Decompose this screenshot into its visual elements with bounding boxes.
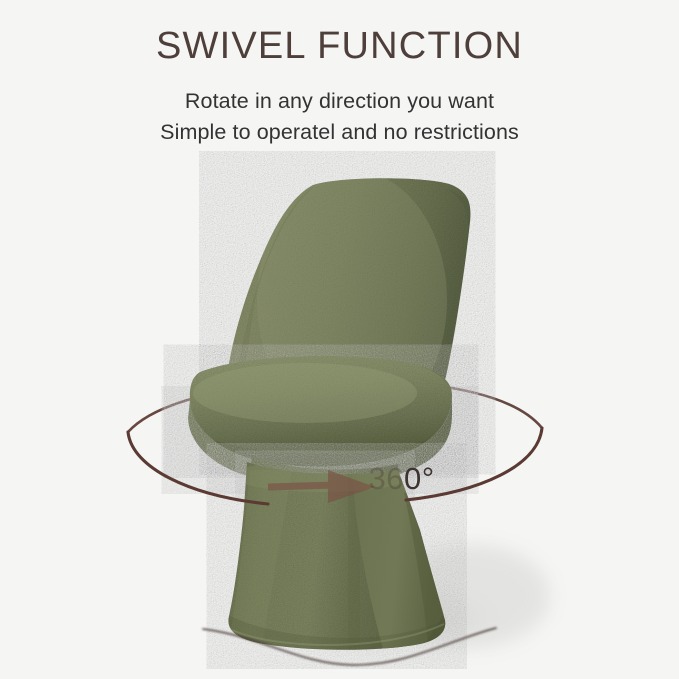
- page-title: SWIVEL FUNCTION: [0, 27, 679, 67]
- rotation-degree-visible: 0°: [404, 461, 435, 496]
- subtitle-line-1: Rotate in any direction you want: [0, 86, 679, 117]
- subtitle-line-2: Simple to operatel and no restrictions: [0, 117, 679, 148]
- product-infographic: 360° SWIVEL FUNCTION Rotate in any direc…: [0, 0, 679, 679]
- headline-block: SWIVEL FUNCTION Rotate in any direction …: [0, 0, 679, 148]
- rotation-degree-label: 360°: [404, 461, 435, 497]
- rotation-degree-occluded: 36: [369, 461, 404, 497]
